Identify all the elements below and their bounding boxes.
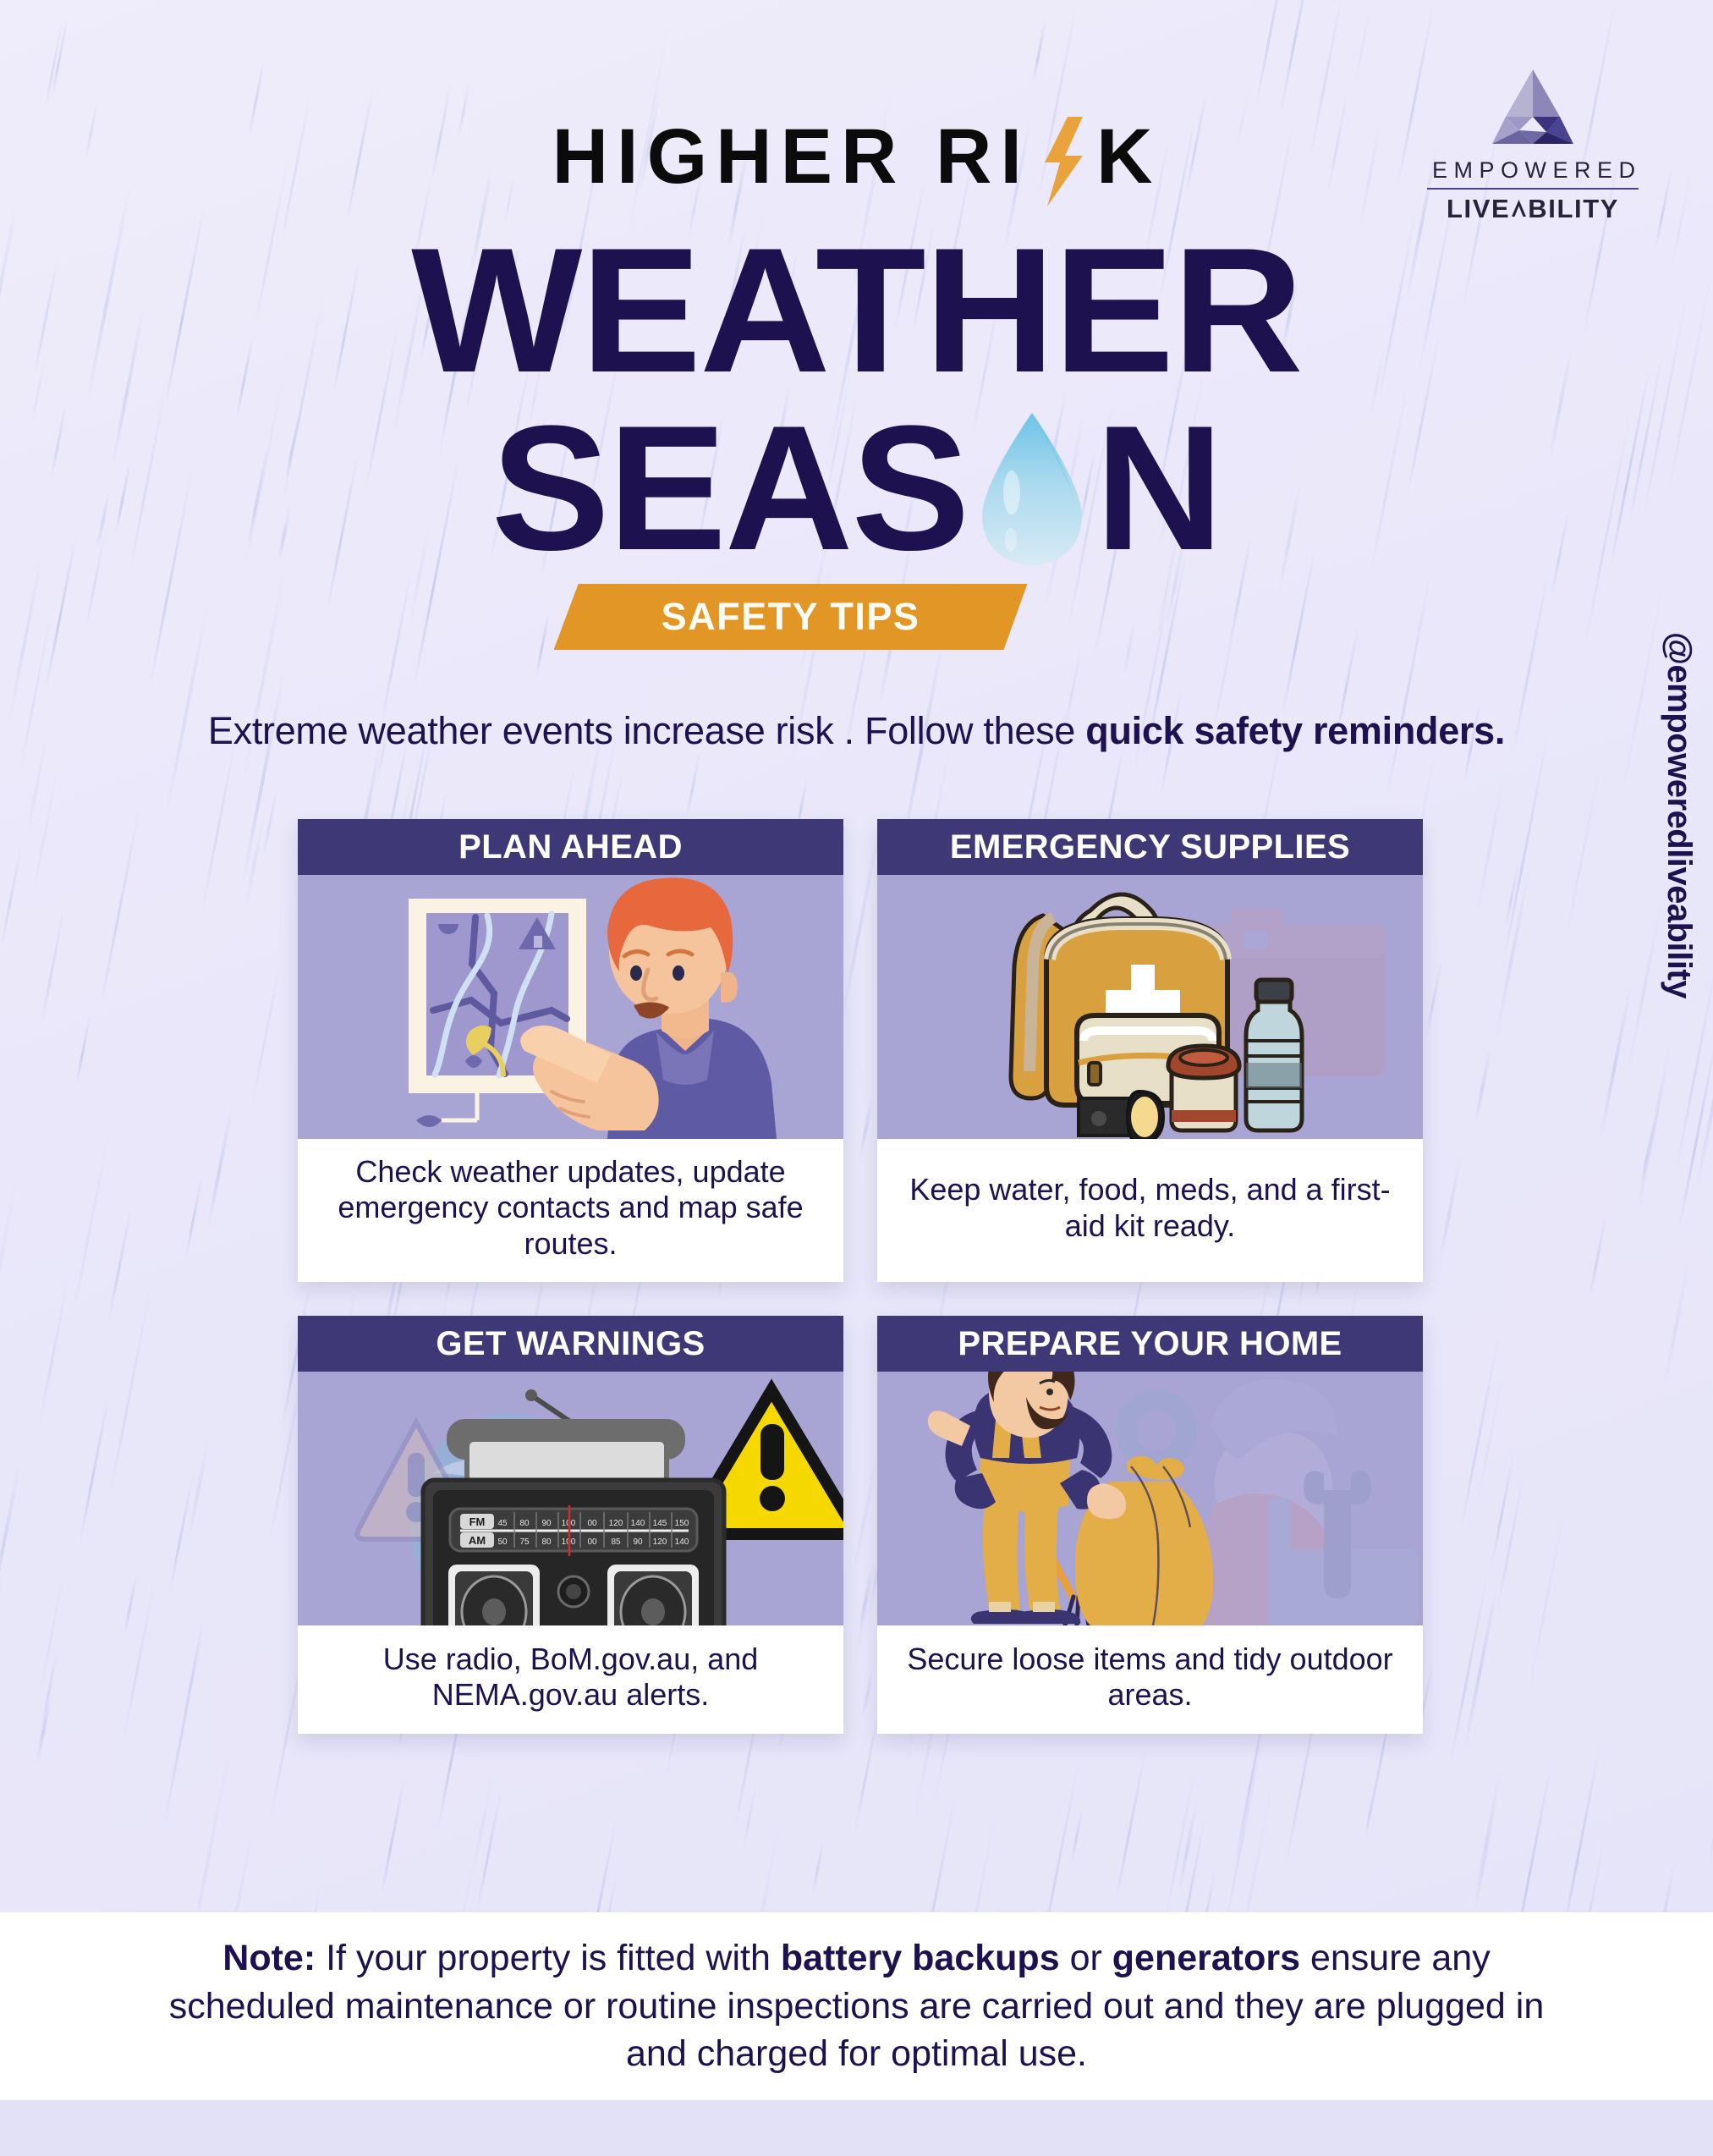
eyebrow-text-before: HIGHER RI: [552, 118, 1030, 195]
safety-tips-label: SAFETY TIPS: [662, 595, 920, 639]
subtitle-line: Extreme weather events increase risk . F…: [0, 709, 1713, 753]
note-text: Note: If your property is fitted with ba…: [155, 1934, 1559, 2078]
card-prepare-your-home[interactable]: PREPARE YOUR HOME: [877, 1316, 1423, 1734]
backpack-first-aid-kit-illustration: [877, 875, 1423, 1139]
title-season-after: N: [1095, 406, 1222, 569]
svg-text:50: 50: [497, 1537, 508, 1547]
card-header-prepare-your-home: PREPARE YOUR HOME: [877, 1316, 1423, 1372]
svg-text:150: 150: [675, 1519, 689, 1528]
svg-text:120: 120: [653, 1537, 667, 1547]
card-caption: Secure loose items and tidy outdoor area…: [877, 1625, 1423, 1734]
note-part1: If your property is fitted with: [316, 1938, 781, 1978]
subtitle-normal-text: Extreme weather events increase risk . F…: [208, 709, 1085, 752]
safety-tips-banner: SAFETY TIPS: [554, 584, 1028, 650]
social-handle: @empoweredliveability: [1660, 632, 1698, 998]
svg-text:90: 90: [541, 1519, 552, 1528]
card-header-emergency-supplies: EMERGENCY SUPPLIES: [877, 819, 1423, 875]
dial-fm-ticks: 458090 10000120 140145150: [497, 1519, 689, 1528]
svg-text:90: 90: [633, 1537, 643, 1547]
svg-text:140: 140: [631, 1519, 645, 1528]
card-title: EMERGENCY SUPPLIES: [950, 828, 1350, 866]
svg-text:45: 45: [497, 1519, 508, 1528]
title-season-before: SEAS: [491, 406, 969, 569]
card-caption: Keep water, food, meds, and a first-aid …: [877, 1139, 1423, 1282]
note-label: Note:: [222, 1938, 316, 1978]
man-sweeping-with-bag-illustration: [877, 1372, 1423, 1625]
card-caption: Check weather updates, update emergency …: [298, 1139, 843, 1282]
card-title: PREPARE YOUR HOME: [958, 1325, 1342, 1363]
svg-text:120: 120: [609, 1519, 623, 1528]
tips-card-grid: PLAN AHEAD: [298, 819, 1423, 1734]
eyebrow-text-after: K: [1096, 118, 1161, 195]
footer-strip: [0, 2100, 1713, 2156]
card-header-get-warnings: GET WARNINGS: [298, 1316, 843, 1372]
subtitle-bold-text: quick safety reminders.: [1085, 709, 1505, 752]
svg-text:85: 85: [611, 1537, 621, 1547]
title-line-season-row: SEAS N: [0, 406, 1713, 569]
note-part2: or: [1060, 1938, 1112, 1978]
card-caption: Use radio, BoM.gov.au, and NEMA.gov.au a…: [298, 1625, 843, 1734]
svg-text:80: 80: [519, 1519, 530, 1528]
card-plan-ahead[interactable]: PLAN AHEAD: [298, 819, 843, 1282]
card-get-warnings[interactable]: GET WARNINGS: [298, 1316, 843, 1734]
svg-text:140: 140: [675, 1537, 689, 1547]
card-title: PLAN AHEAD: [458, 828, 683, 866]
svg-text:80: 80: [541, 1537, 552, 1547]
card-title: GET WARNINGS: [436, 1325, 705, 1363]
svg-text:145: 145: [653, 1519, 667, 1528]
note-bold2: generators: [1112, 1938, 1300, 1978]
card-emergency-supplies[interactable]: EMERGENCY SUPPLIES: [877, 819, 1423, 1282]
svg-text:75: 75: [519, 1537, 530, 1547]
eyebrow-higher-risk: HIGHER RI K: [0, 110, 1713, 203]
dial-am-ticks: 507580 1000085 90120140: [497, 1537, 689, 1547]
note-band: Note: If your property is fitted with ba…: [0, 1912, 1713, 2100]
water-droplet-icon: [969, 408, 1095, 569]
radio-warning-sign-illustration: FM AM 458090 10000120 140145150 507580 1…: [298, 1372, 843, 1625]
svg-text:00: 00: [587, 1537, 597, 1547]
note-bold1: battery backups: [781, 1938, 1060, 1978]
man-pointing-at-map-illustration: [298, 875, 843, 1139]
lightning-bolt-icon: [1030, 115, 1096, 208]
title-line-weather: WEATHER: [0, 228, 1713, 392]
dial-am-label: AM: [469, 1534, 486, 1547]
dial-fm-label: FM: [469, 1515, 486, 1528]
svg-text:00: 00: [587, 1519, 597, 1528]
poster-canvas: EMPOWERED LIVE BILITY HIGHER RI K WEATHE…: [0, 0, 1713, 2156]
card-header-plan-ahead: PLAN AHEAD: [298, 819, 843, 875]
